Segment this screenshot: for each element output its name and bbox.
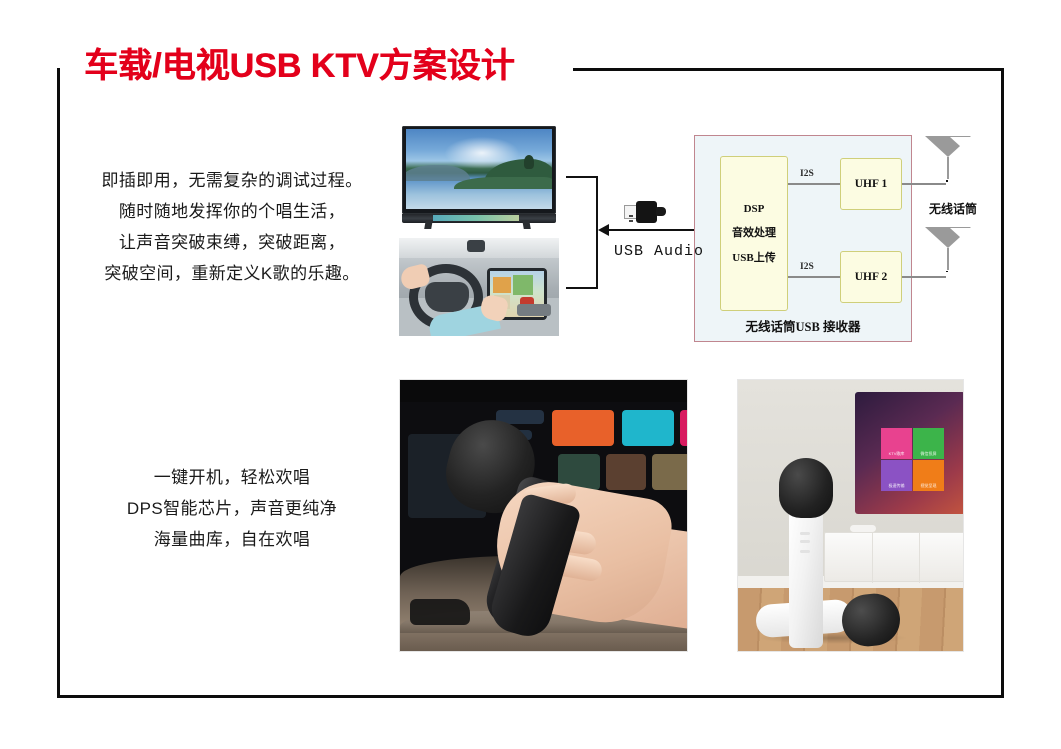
- paragraph-line: 让声音突破束缚，突破距离，: [72, 227, 392, 258]
- antenna-2-icon: [925, 227, 971, 271]
- remote-control: [850, 525, 876, 532]
- dsp-function-1: 音效处理: [732, 224, 776, 240]
- slide-canvas: 车载/电视USB KTV方案设计 即插即用，无需复杂的调试过程。 随时随地发挥你…: [0, 0, 1061, 749]
- dsp-block: DSP 音效处理 USB上传: [720, 156, 788, 311]
- tv-tile-chat: 微信投屏: [913, 428, 944, 459]
- display-tile: [622, 410, 674, 446]
- usb-plug-icon: [624, 200, 666, 224]
- tv-tile-ktv: KTV歌库: [881, 428, 912, 459]
- frame-right-border: [1001, 68, 1004, 698]
- antenna-2-triangle: [925, 227, 971, 248]
- paragraph-line: DPS智能芯片，声音更纯净: [72, 493, 392, 524]
- antenna-1-triangle: [925, 136, 971, 157]
- antenna1-drop: [946, 180, 948, 182]
- i2s-label-lower: I2S: [800, 262, 814, 272]
- tv-scene-hill-left: [406, 165, 470, 181]
- wire-dsp-to-uhf2: [788, 276, 840, 278]
- cabinet-divider: [919, 533, 920, 583]
- tv-scene-shore: [454, 177, 552, 189]
- antenna-1-icon: [925, 136, 971, 180]
- paragraph-line: 海量曲库，自在欢唱: [72, 524, 392, 555]
- receiver-block-diagram: DSP 音效处理 USB上传 UHF 1 UHF 2 I2S I2S 无线话筒U…: [694, 135, 912, 342]
- usb-audio-label: USB Audio: [604, 243, 714, 260]
- microphones-living-room-photo: KTV歌库 微信投屏 极速传输 视觉呈现: [737, 379, 964, 652]
- frame-bottom-border: [57, 695, 1004, 698]
- cabinet-divider: [872, 533, 873, 583]
- lead-car-horizontal: [566, 287, 598, 289]
- i2s-label-upper: I2S: [800, 169, 814, 179]
- display-tile: [652, 454, 688, 490]
- paragraph-line: 即插即用，无需复杂的调试过程。: [72, 165, 392, 196]
- tv-leg-left: [424, 220, 433, 229]
- wire-uhf1-to-antenna: [902, 183, 946, 185]
- tv-tile-label: 视觉呈现: [913, 483, 944, 489]
- usb-plug-tail: [656, 207, 666, 216]
- microphone-1-button: [800, 550, 810, 553]
- tv-tile-label: 微信投屏: [913, 451, 944, 457]
- antenna-2-stem: [947, 248, 949, 270]
- paragraph-line: 突破空间，重新定义K歌的乐趣。: [72, 258, 392, 289]
- display-tile: [680, 410, 688, 446]
- microphone-1-button: [800, 540, 810, 543]
- car-screen-tile: [513, 275, 533, 295]
- microphone-1-foam-head: [779, 458, 833, 518]
- tv-cabinet: [824, 532, 964, 582]
- tv-scene-tree: [524, 155, 534, 169]
- antenna2-riser: [946, 271, 948, 272]
- display-tile: [606, 454, 646, 490]
- lead-bus-to-receiver: [608, 229, 696, 231]
- car-interior-photo: [399, 238, 559, 336]
- page-title: 车载/电视USB KTV方案设计: [84, 44, 515, 88]
- antenna-2-triangle-inner: [950, 228, 992, 247]
- tv-speaker-strip: [433, 215, 519, 221]
- wire-uhf2-to-antenna: [902, 276, 946, 278]
- tv-leg-right: [522, 220, 531, 229]
- uhf2-block: UHF 2: [840, 251, 902, 303]
- usb-plug-body: [636, 201, 657, 223]
- frame-left-border: [57, 68, 60, 698]
- diagram-caption: 无线话筒USB 接收器: [695, 316, 911, 335]
- wall-mounted-tv: KTV歌库 微信投屏 极速传输 视觉呈现: [855, 392, 964, 514]
- microphone-1-button: [800, 532, 810, 535]
- usb-pin: [629, 215, 633, 217]
- frame-top-border: [573, 68, 1004, 71]
- antenna-1-stem: [947, 157, 949, 179]
- lead-tv-horizontal: [566, 176, 598, 178]
- tv-tile-label: 极速传输: [881, 483, 912, 489]
- uhf1-label: UHF 1: [855, 178, 887, 190]
- tv-photo: [399, 124, 559, 230]
- tv-tile-label: KTV歌库: [881, 451, 912, 457]
- wire-dsp-to-uhf1: [788, 183, 840, 185]
- usb-direction-arrow-icon: [598, 224, 609, 236]
- uhf2-label: UHF 2: [855, 271, 887, 283]
- paragraph-line: 一键开机，轻松欢唱: [72, 462, 392, 493]
- antenna-1-triangle-inner: [950, 137, 992, 156]
- tv-tile-send: 极速传输: [881, 460, 912, 491]
- tv-tile-eye: 视觉呈现: [913, 460, 944, 491]
- dsp-title: DSP: [744, 203, 765, 215]
- display-tile: [552, 410, 614, 446]
- feature-paragraph-top: 即插即用，无需复杂的调试过程。 随时随地发挥你的个唱生活， 让声音突破束缚，突破…: [72, 165, 392, 289]
- tv-bezel: [402, 126, 556, 214]
- feature-paragraph-bottom: 一键开机，轻松欢唱 DPS智能芯片，声音更纯净 海量曲库，自在欢唱: [72, 462, 392, 555]
- car-air-vent: [517, 304, 551, 316]
- usb-pin: [629, 220, 633, 222]
- dsp-function-2: USB上传: [732, 249, 775, 265]
- car-steering-hub: [425, 282, 469, 312]
- paragraph-line: 随时随地发挥你的个唱生活，: [72, 196, 392, 227]
- tv-screen: [406, 129, 552, 209]
- wireless-microphone-label: 无线话筒: [918, 200, 988, 217]
- car-dash-vent: [410, 599, 470, 625]
- microphone-1-body: [789, 508, 823, 648]
- uhf1-block: UHF 1: [840, 158, 902, 210]
- car-rearview-mirror: [467, 240, 485, 252]
- microphone-in-car-photo: [399, 379, 688, 652]
- car-screen-tile: [493, 277, 511, 293]
